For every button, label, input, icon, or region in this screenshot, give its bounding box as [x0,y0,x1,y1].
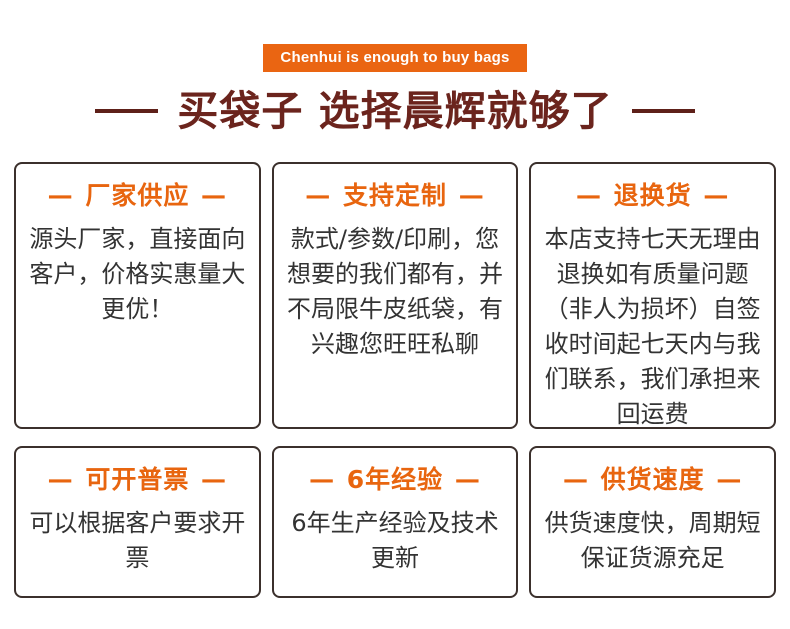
title-rule-left-icon [95,109,158,113]
card-body-text: 可以根据客户要求开票 [28,506,247,576]
feature-card-grid: — 厂家供应 — 源头厂家，直接面向客户，价格实惠量大更优！ — 支持定制 — … [14,162,776,598]
card-heading-label: 可开普票 [85,465,189,494]
card-body-text: 款式/参数/印刷，您想要的我们都有，并不局限牛皮纸袋，有兴趣您旺旺私聊 [286,222,505,362]
feature-card-manufacturer-supply: — 厂家供应 — 源头厂家，直接面向客户，价格实惠量大更优！ [14,162,261,429]
feature-card-returns-exchanges: — 退换货 — 本店支持七天无理由退换如有质量问题（非人为损坏）自签收时间起七天… [529,162,776,429]
promo-banner-page: Chenhui is enough to buy bags 买袋子 选择晨辉就够… [0,0,790,629]
card-heading: — 可开普票 — [46,464,229,496]
card-heading-label: 供货速度 [601,465,705,494]
heading-dash-left-icon: — [303,181,333,210]
main-title-row: 买袋子 选择晨辉就够了 [0,86,790,136]
tagline-banner: Chenhui is enough to buy bags [263,44,526,72]
heading-dash-left-icon: — [46,465,76,494]
heading-dash-right-icon: — [199,181,229,210]
card-heading-label: 厂家供应 [85,181,189,210]
heading-dash-left-icon: — [46,181,76,210]
card-body-text: 6年生产经验及技术更新 [286,506,505,576]
heading-dash-right-icon: — [714,465,744,494]
card-heading: — 退换货 — [574,180,731,212]
heading-dash-left-icon: — [574,181,604,210]
page-title: 买袋子 选择晨辉就够了 [177,86,612,136]
feature-card-experience: — 6年经验 — 6年生产经验及技术更新 [272,446,519,598]
heading-dash-right-icon: — [701,181,731,210]
heading-dash-left-icon: — [307,465,337,494]
card-heading: — 6年经验 — [307,464,483,496]
card-body-text: 源头厂家，直接面向客户，价格实惠量大更优！ [28,222,247,327]
feature-card-invoice: — 可开普票 — 可以根据客户要求开票 [14,446,261,598]
card-heading: — 厂家供应 — [46,180,229,212]
heading-dash-right-icon: — [199,465,229,494]
card-heading-label: 支持定制 [343,181,447,210]
title-rule-right-icon [632,109,695,113]
card-heading: — 支持定制 — [303,180,486,212]
feature-card-supply-speed: — 供货速度 — 供货速度快，周期短保证货源充足 [529,446,776,598]
card-heading-label: 退换货 [614,181,692,210]
card-heading: — 供货速度 — [561,464,744,496]
heading-dash-left-icon: — [561,465,591,494]
tagline-banner-row: Chenhui is enough to buy bags [0,44,790,72]
feature-card-customization: — 支持定制 — 款式/参数/印刷，您想要的我们都有，并不局限牛皮纸袋，有兴趣您… [272,162,519,429]
heading-dash-right-icon: — [457,181,487,210]
heading-dash-right-icon: — [453,465,483,494]
card-body-text: 本店支持七天无理由退换如有质量问题（非人为损坏）自签收时间起七天内与我们联系，我… [543,222,762,432]
card-heading-label: 6年经验 [347,465,443,494]
card-body-text: 供货速度快，周期短保证货源充足 [543,506,762,576]
